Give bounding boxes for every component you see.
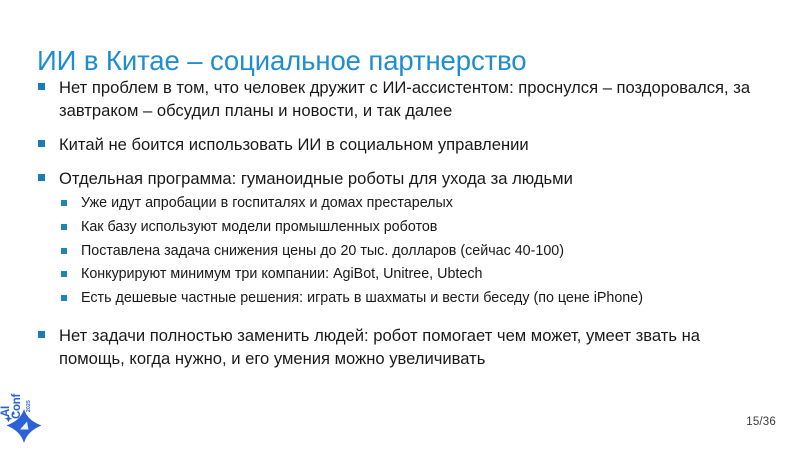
logo-wordmark: AI Conf 2025 [2, 382, 30, 408]
ai-conf-logo: AI Conf 2025 [2, 382, 48, 444]
sub-bullet-item: Есть дешевые частные решения: играть в ш… [37, 287, 767, 311]
bullet-marker-icon [38, 331, 45, 338]
bullet-item: Нет задачи полностью заменить людей: роб… [37, 324, 767, 370]
bullet-marker-icon [38, 83, 45, 90]
sub-bullet-marker-icon [61, 295, 67, 301]
page-number: 15/36 [746, 416, 776, 428]
sub-bullet-item: Уже идут апробации в госпиталях и домах … [37, 192, 767, 216]
logo-diamond-star-icon [3, 408, 45, 444]
sub-bullet-list: Уже идут апробации в госпиталях и домах … [37, 192, 767, 311]
sub-bullet-text: Как базу используют модели промышленных … [81, 219, 437, 235]
sub-bullet-marker-icon [61, 224, 67, 230]
sub-bullet-marker-icon [61, 248, 67, 254]
bullet-item: Отдельная программа: гуманоидные роботы … [37, 167, 767, 190]
slide-body: Нет проблем в том, что человек дружит с … [37, 76, 767, 381]
page-title: ИИ в Китае – социальное партнерство [37, 44, 767, 78]
bullet-marker-icon [38, 174, 45, 181]
bullet-text: Китай не боится использовать ИИ в социал… [59, 135, 529, 154]
slide-canvas: ИИ в Китае – социальное партнерство Нет … [0, 0, 800, 450]
sub-bullet-text: Конкурируют минимум три компании: AgiBot… [81, 266, 482, 282]
bullet-item: Нет проблем в том, что человек дружит с … [37, 76, 767, 122]
sub-bullet-marker-icon [61, 200, 67, 206]
sub-bullet-text: Уже идут апробации в госпиталях и домах … [81, 195, 453, 211]
sub-bullet-item: Поставлена задача снижения цены до 20 ты… [37, 240, 767, 264]
sub-bullet-item: Как базу используют модели промышленных … [37, 216, 767, 240]
bullet-marker-icon [38, 140, 45, 147]
sub-bullet-marker-icon [61, 271, 67, 277]
sub-bullet-text: Поставлена задача снижения цены до 20 ты… [81, 243, 564, 259]
bullet-text: Нет задачи полностью заменить людей: роб… [59, 326, 700, 368]
sub-bullet-text: Есть дешевые частные решения: играть в ш… [81, 290, 643, 306]
bullet-text: Отдельная программа: гуманоидные роботы … [59, 169, 573, 188]
spacer [37, 315, 767, 324]
bullet-text: Нет проблем в том, что человек дружит с … [59, 78, 750, 120]
bullet-item: Китай не боится использовать ИИ в социал… [37, 133, 767, 156]
sub-bullet-item: Конкурируют минимум три компании: AgiBot… [37, 263, 767, 287]
